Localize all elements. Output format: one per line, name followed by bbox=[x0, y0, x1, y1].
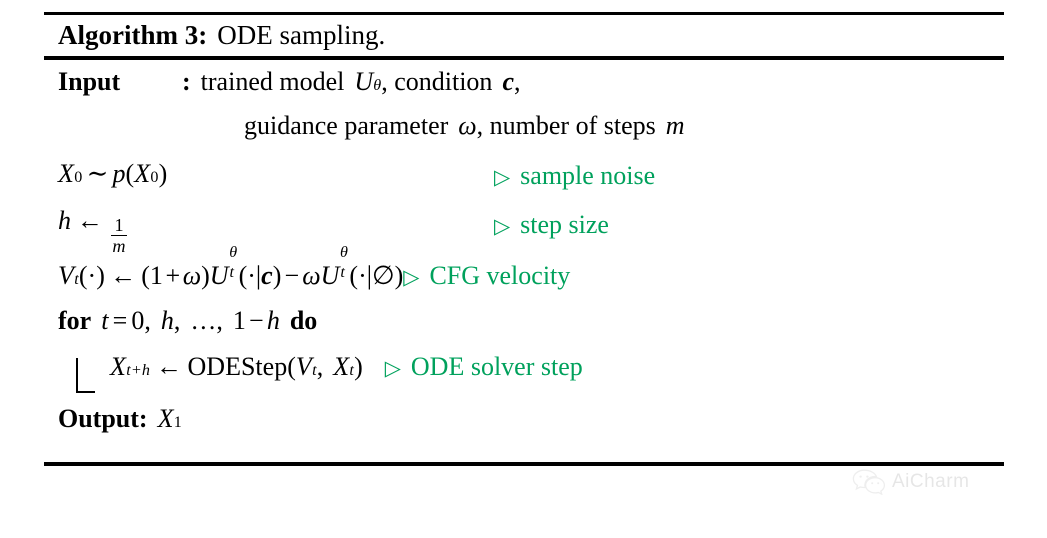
symbol-omega: ω bbox=[458, 113, 476, 139]
fraction-denominator: m bbox=[110, 237, 127, 256]
symbol-U-2-superscript-theta: θ bbox=[340, 245, 348, 261]
paren-open-3: ( bbox=[239, 263, 248, 289]
comment-triangle-icon: ▷ bbox=[403, 267, 419, 288]
paren-close: ) bbox=[96, 263, 105, 289]
step-step-size: h←1m ▷step size bbox=[58, 208, 1004, 258]
input-colon: : bbox=[182, 69, 191, 95]
algorithm-title-keyword: Algorithm 3: bbox=[58, 20, 207, 50]
symbol-X: X bbox=[110, 354, 126, 380]
symbol-X-2: X bbox=[134, 161, 150, 187]
comma-1: , bbox=[144, 308, 151, 334]
ellipsis: … bbox=[190, 308, 216, 334]
symbol-U: U bbox=[354, 69, 373, 95]
symbol-U-2: U bbox=[321, 263, 340, 289]
paren-open-4: ( bbox=[349, 263, 358, 289]
symbol-U-subscript-t: t bbox=[230, 265, 234, 281]
input-text-b: , condition bbox=[381, 69, 492, 95]
symbol-U-2-subscript-t: t bbox=[340, 265, 344, 281]
output-label: Output: bbox=[58, 406, 148, 432]
input-label: Input bbox=[58, 69, 182, 95]
paren-close-2: ) bbox=[201, 263, 210, 289]
comma-3: , bbox=[216, 308, 223, 334]
symbol-U-superscript-theta: θ bbox=[229, 245, 237, 261]
symbol-omega-2: ω bbox=[302, 263, 320, 289]
paren-close: ) bbox=[159, 161, 168, 187]
symbol-X: X bbox=[58, 161, 74, 187]
paren-open: ( bbox=[126, 161, 135, 187]
comment-triangle-icon: ▷ bbox=[494, 214, 510, 238]
symbol-condition-c: c bbox=[502, 69, 514, 95]
output-line: Output:X1 bbox=[58, 406, 1004, 452]
input2-text-a: guidance parameter bbox=[244, 113, 448, 139]
op-plus: + bbox=[163, 263, 183, 289]
symbol-V: V bbox=[58, 263, 74, 289]
op-minus: − bbox=[246, 308, 267, 334]
comment-step-size: ▷step size bbox=[494, 212, 609, 238]
op-assign-arrow: ← bbox=[105, 263, 141, 289]
symbol-h-2: h bbox=[267, 308, 280, 334]
comment-triangle-icon: ▷ bbox=[385, 358, 401, 379]
number-one: 1 bbox=[150, 263, 163, 289]
paren-open-2: ( bbox=[141, 263, 150, 289]
cdot: · bbox=[88, 263, 97, 289]
keyword-for: for bbox=[58, 308, 91, 334]
symbol-X-subscript: 0 bbox=[74, 170, 82, 186]
loop-body-bracket bbox=[76, 358, 95, 393]
op-assign-arrow: ← bbox=[150, 354, 187, 380]
symbol-p: p bbox=[113, 161, 126, 187]
symbol-X-2: X bbox=[333, 354, 349, 380]
number-one: 1 bbox=[233, 308, 246, 334]
cdot-2: · bbox=[247, 263, 256, 289]
fraction-one-over-m: 1m bbox=[110, 216, 127, 256]
symbol-X-2-subscript: 0 bbox=[150, 170, 158, 186]
step-sample-noise: X0∼p(X0) ▷sample noise bbox=[58, 161, 1004, 208]
paren-open: ( bbox=[287, 354, 296, 380]
input-text-c: , bbox=[514, 69, 521, 95]
symbol-X-subscript-tph: t+h bbox=[126, 363, 150, 379]
comment-text: CFG velocity bbox=[429, 263, 570, 289]
number-zero: 0 bbox=[131, 308, 144, 334]
rule-bottom bbox=[44, 462, 1004, 466]
cdot-3: · bbox=[358, 263, 367, 289]
function-odestep: ODEStep bbox=[188, 354, 288, 380]
symbol-X-output: X bbox=[158, 406, 174, 432]
keyword-do: do bbox=[290, 308, 317, 334]
paren-open: ( bbox=[79, 263, 88, 289]
symbol-V: V bbox=[296, 354, 312, 380]
algorithm-block: Algorithm 3:ODE sampling. Input:trained … bbox=[44, 12, 1004, 504]
symbol-t: t bbox=[101, 308, 108, 334]
comma-2: , bbox=[174, 308, 181, 334]
input2-text-b: , number of steps bbox=[477, 113, 656, 139]
symbol-omega: ω bbox=[183, 263, 201, 289]
symbol-X-output-subscript: 1 bbox=[174, 415, 182, 431]
fraction-numerator: 1 bbox=[110, 216, 127, 235]
comment-triangle-icon: ▷ bbox=[494, 165, 510, 189]
comment-sample-noise: ▷sample noise bbox=[494, 163, 655, 189]
comment-text: sample noise bbox=[520, 161, 655, 190]
symbol-U: U bbox=[210, 263, 229, 289]
symbol-emptyset: ∅ bbox=[372, 263, 395, 289]
op-assign-arrow: ← bbox=[71, 208, 108, 234]
step-for-loop: fort=0,h,…,1−hdo bbox=[58, 308, 1004, 354]
comment-text: step size bbox=[520, 210, 609, 239]
symbol-U-superscript: θ bbox=[373, 78, 381, 94]
paren-close-3: ) bbox=[273, 263, 282, 289]
symbol-m: m bbox=[666, 113, 685, 139]
paren-close-4: ) bbox=[395, 263, 404, 289]
input-line-1: Input:trained modelUθ, conditionc, bbox=[58, 69, 1004, 113]
algorithm-title-caption: ODE sampling. bbox=[217, 20, 385, 50]
op-minus: − bbox=[281, 263, 302, 289]
op-sim: ∼ bbox=[82, 161, 112, 187]
algorithm-body: Input:trained modelUθ, conditionc, guida… bbox=[44, 60, 1004, 462]
step-cfg-velocity: Vt(·)←(1+ω)Uθt(·|c)−ωUθt(·|∅)▷CFG veloci… bbox=[58, 258, 1004, 308]
symbol-h: h bbox=[58, 208, 71, 234]
step-ode-solver: Xt+h←ODEStep(Vt,Xt)▷ODE solver step bbox=[58, 354, 1004, 406]
paren-close: ) bbox=[354, 354, 363, 380]
input-text-a: trained model bbox=[201, 69, 345, 95]
input-line-2: guidance parameterω, number of stepsm bbox=[58, 113, 1004, 161]
symbol-condition-c: c bbox=[261, 263, 273, 289]
symbol-h: h bbox=[161, 308, 174, 334]
comment-text: ODE solver step bbox=[411, 354, 583, 380]
algorithm-title: Algorithm 3:ODE sampling. bbox=[44, 15, 1004, 56]
comma: , bbox=[317, 354, 324, 380]
op-equals: = bbox=[108, 308, 131, 334]
